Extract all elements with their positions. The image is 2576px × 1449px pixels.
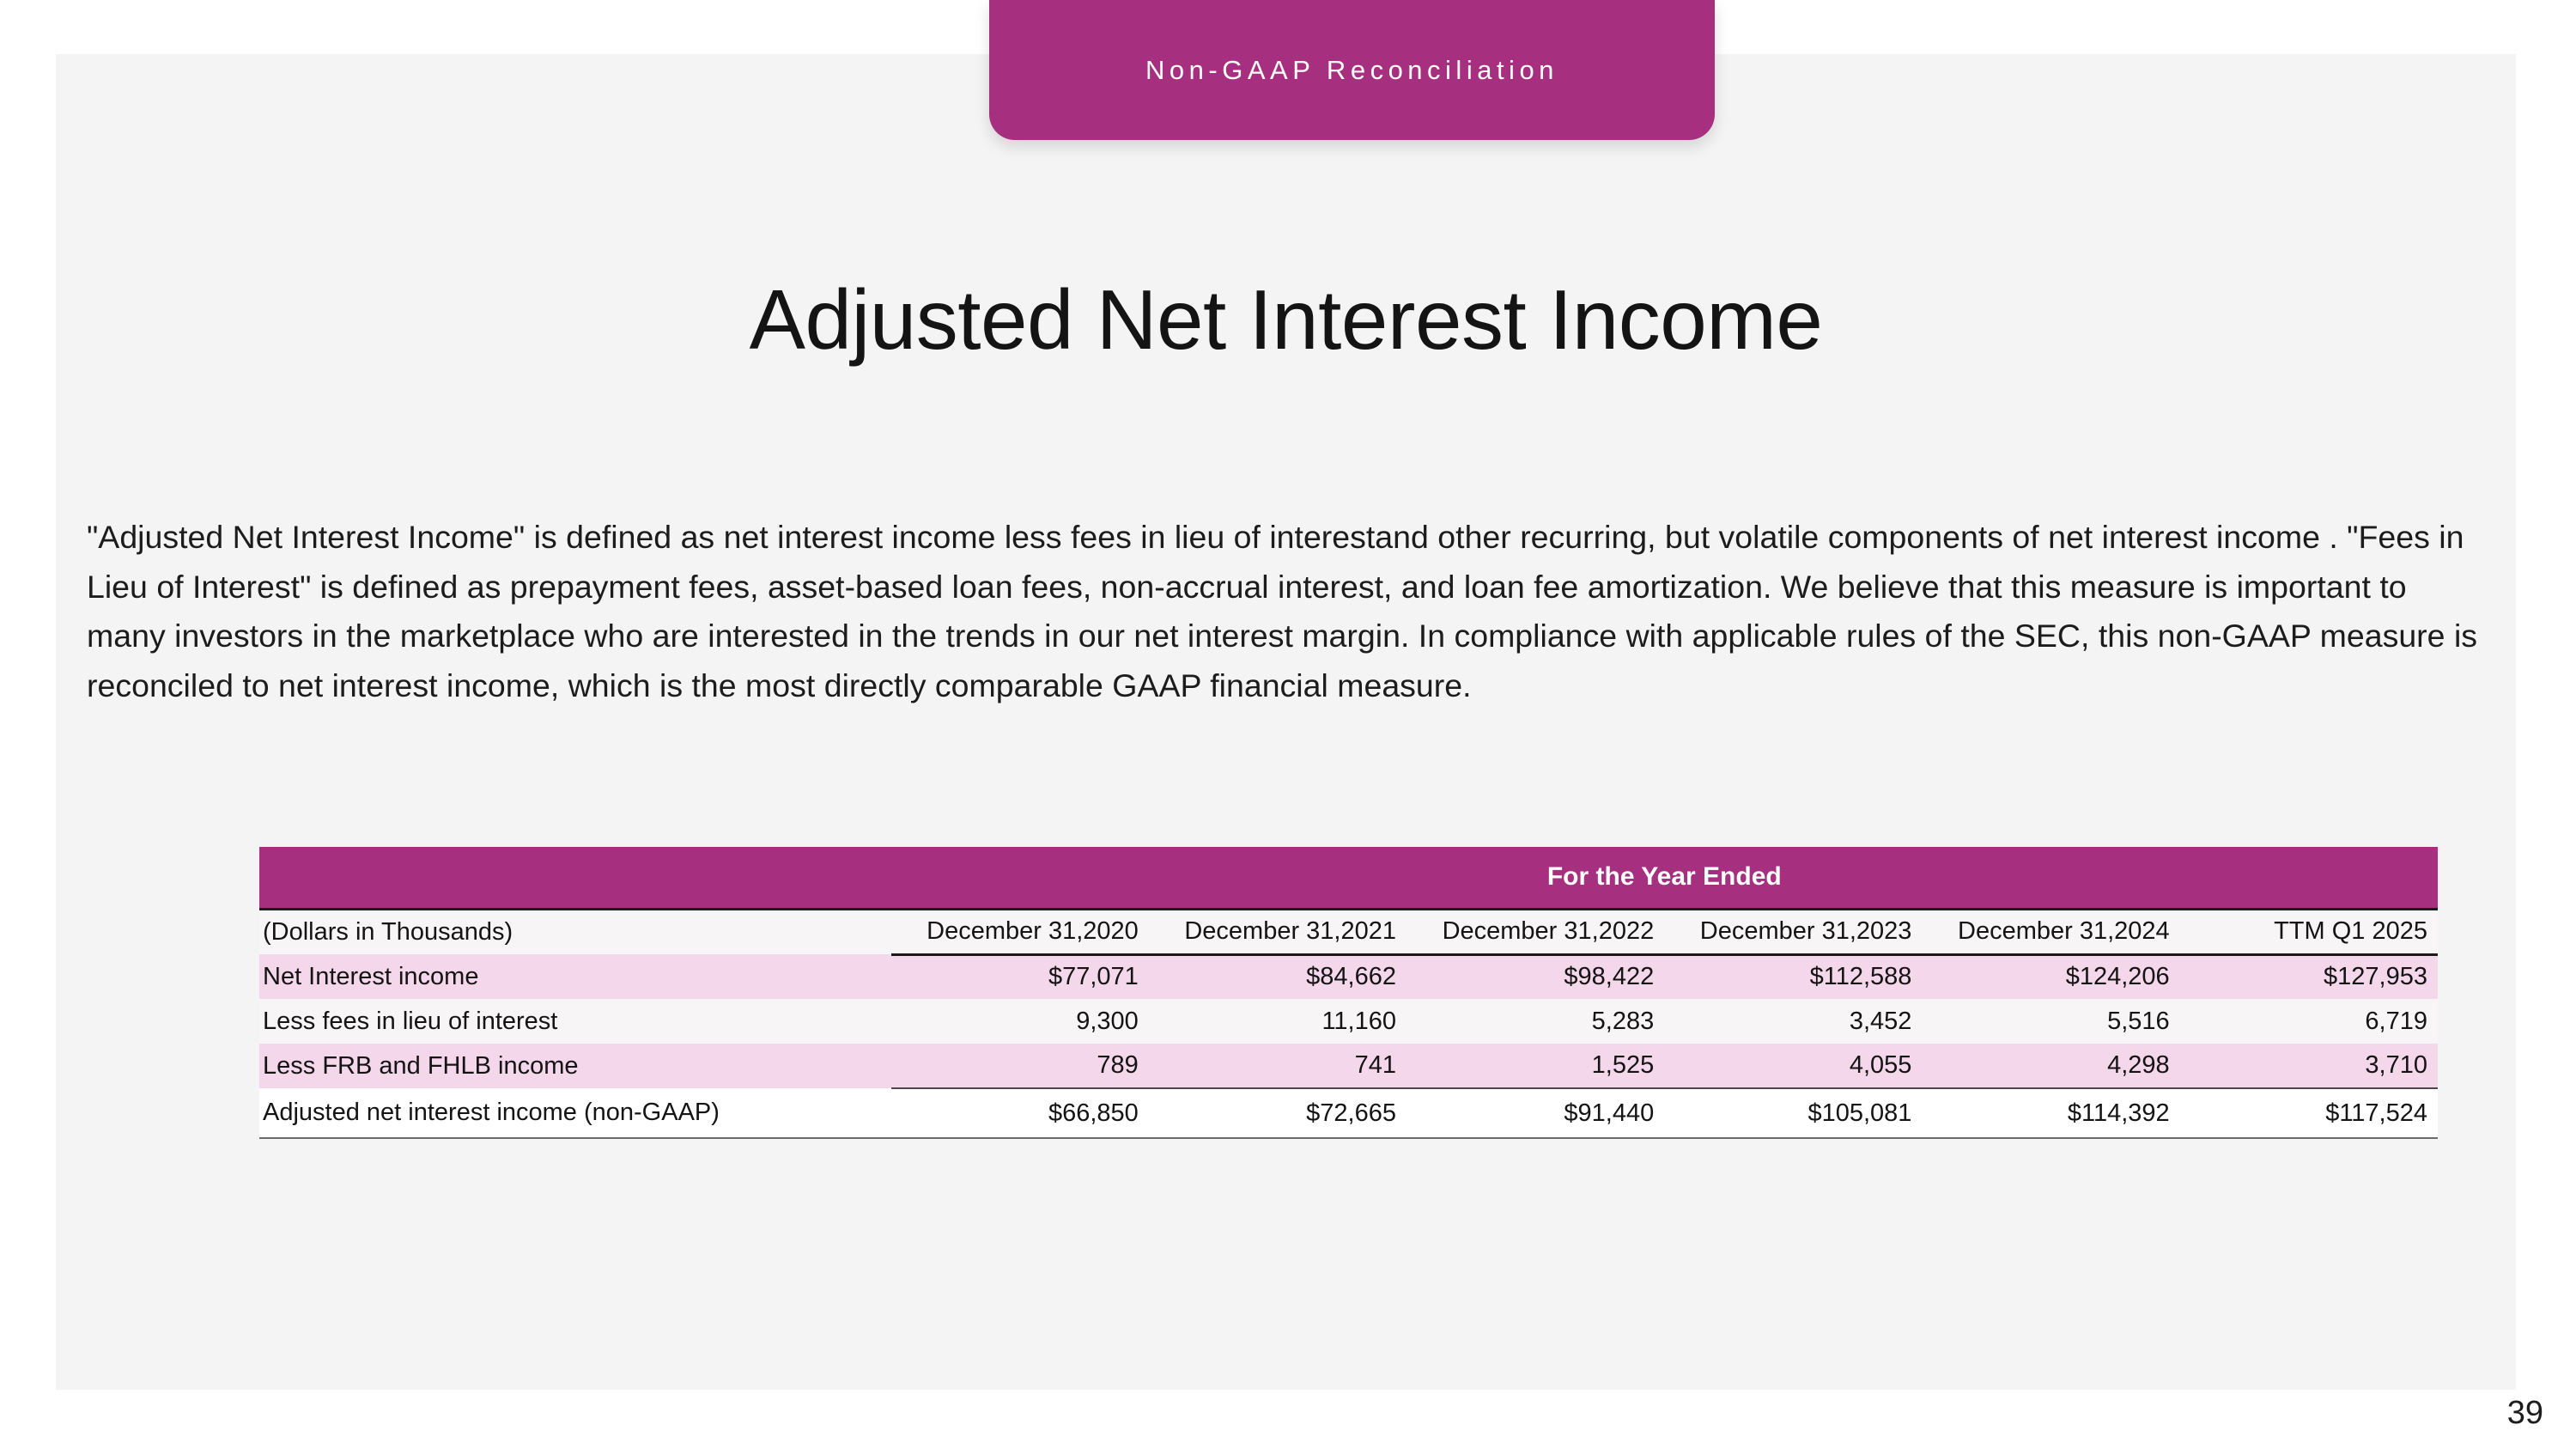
row-value: 741 (1149, 1044, 1406, 1088)
total-row-label: Adjusted net interest income (non-GAAP) (259, 1088, 891, 1138)
total-row-value: $105,081 (1664, 1088, 1922, 1138)
table-band-row: For the Year Ended (259, 847, 2438, 909)
row-value: 5,516 (1922, 999, 2179, 1044)
column-header-1: December 31,2021 (1149, 909, 1406, 954)
column-header-4: December 31,2024 (1922, 909, 2179, 954)
row-label: Less FRB and FHLB income (259, 1044, 891, 1088)
slide-stage: Non-GAAP Reconciliation Adjusted Net Int… (0, 0, 2576, 1449)
row-value: 5,283 (1406, 999, 1664, 1044)
table-column-header-row: (Dollars in Thousands) December 31,2020 … (259, 909, 2438, 954)
row-value: 3,452 (1664, 999, 1922, 1044)
row-value: 4,298 (1922, 1044, 2179, 1088)
column-header-label: (Dollars in Thousands) (259, 909, 891, 954)
row-value: 4,055 (1664, 1044, 1922, 1088)
row-value: 9,300 (891, 999, 1149, 1044)
row-value: 789 (891, 1044, 1149, 1088)
table-row: Less FRB and FHLB income 789 741 1,525 4… (259, 1044, 2438, 1088)
reconciliation-table: For the Year Ended (Dollars in Thousands… (259, 847, 2438, 1139)
slide-card: Non-GAAP Reconciliation Adjusted Net Int… (56, 54, 2516, 1390)
band-title-cell: For the Year Ended (891, 847, 2438, 909)
table-row: Net Interest income $77,071 $84,662 $98,… (259, 954, 2438, 999)
column-header-0: December 31,2020 (891, 909, 1149, 954)
row-value: 3,710 (2180, 1044, 2438, 1088)
column-header-5: TTM Q1 2025 (2180, 909, 2438, 954)
page-number: 39 (2507, 1395, 2543, 1432)
table-row: Less fees in lieu of interest 9,300 11,1… (259, 999, 2438, 1044)
total-row-value: $66,850 (891, 1088, 1149, 1138)
column-header-3: December 31,2023 (1664, 909, 1922, 954)
row-value: $84,662 (1149, 954, 1406, 999)
row-value: 6,719 (2180, 999, 2438, 1044)
section-banner-tab: Non-GAAP Reconciliation (989, 0, 1715, 140)
row-value: $77,071 (891, 954, 1149, 999)
band-spacer-cell (259, 847, 891, 909)
row-value: $112,588 (1664, 954, 1922, 999)
row-value: 1,525 (1406, 1044, 1664, 1088)
row-label: Less fees in lieu of interest (259, 999, 891, 1044)
row-value: $98,422 (1406, 954, 1664, 999)
row-value: $127,953 (2180, 954, 2438, 999)
section-banner-label: Non-GAAP Reconciliation (1145, 55, 1558, 86)
column-header-2: December 31,2022 (1406, 909, 1664, 954)
page-title: Adjusted Net Interest Income (56, 271, 2516, 368)
total-row-value: $114,392 (1922, 1088, 2179, 1138)
row-value: $124,206 (1922, 954, 2179, 999)
reconciliation-table-wrapper: For the Year Ended (Dollars in Thousands… (259, 847, 2438, 1139)
row-label: Net Interest income (259, 954, 891, 999)
definition-paragraph: "Adjusted Net Interest Income" is define… (87, 513, 2482, 710)
total-row-value: $72,665 (1149, 1088, 1406, 1138)
total-row-value: $91,440 (1406, 1088, 1664, 1138)
table-total-row: Adjusted net interest income (non-GAAP) … (259, 1088, 2438, 1138)
row-value: 11,160 (1149, 999, 1406, 1044)
total-row-value: $117,524 (2180, 1088, 2438, 1138)
